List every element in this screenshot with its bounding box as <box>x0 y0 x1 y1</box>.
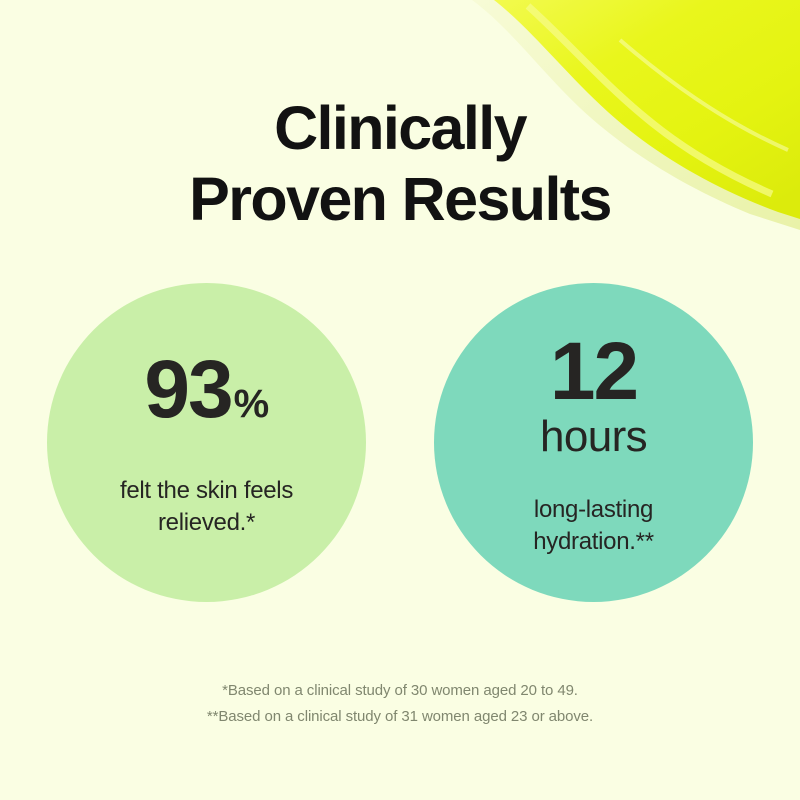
footnote-line-2: **Based on a clinical study of 31 women … <box>0 704 800 730</box>
stat-description-relief: felt the skin feels relieved.* <box>120 475 293 539</box>
stat-circle-group: 93 % felt the skin feels relieved.* 12 h… <box>47 283 753 603</box>
page-title: Clinically Proven Results <box>0 93 800 235</box>
stat-description-hydration: long-lasting hydration.** <box>533 494 653 558</box>
footnotes: *Based on a clinical study of 30 women a… <box>0 678 800 731</box>
stat-circle-hydration: 12 hours long-lasting hydration.** <box>434 283 753 602</box>
stat-figure-relief: 93 % <box>144 349 268 431</box>
stat-number-hydration: 12 <box>550 331 637 413</box>
stat-circle-relief: 93 % felt the skin feels relieved.* <box>47 283 366 602</box>
stat-number-relief: 93 <box>144 349 231 431</box>
footnote-line-1: *Based on a clinical study of 30 women a… <box>0 678 800 704</box>
stat-unit-relief: % <box>234 384 269 424</box>
stat-unit-hydration: hours <box>540 415 647 460</box>
stat-figure-hydration: 12 <box>550 331 637 413</box>
clinical-results-infographic: Clinically Proven Results 93 % felt the … <box>0 0 800 800</box>
